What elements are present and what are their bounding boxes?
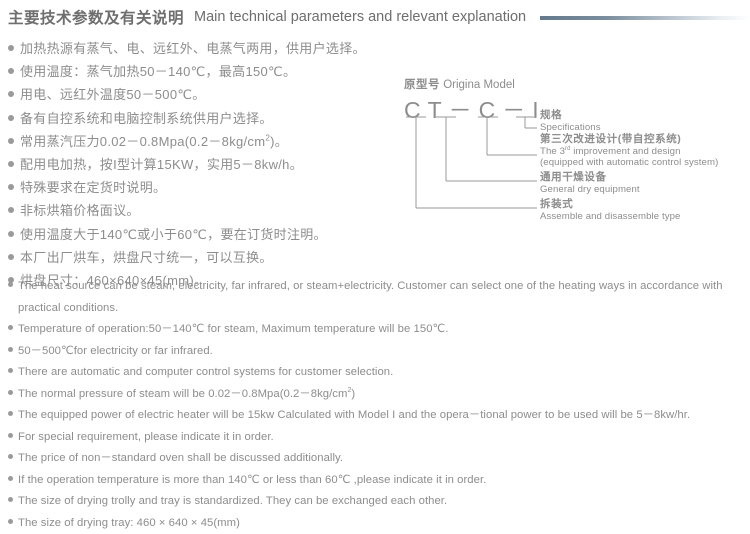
bullet-icon (8, 207, 14, 213)
list-item: 本厂出厂烘车，烘盘尺寸统一，可以互换。 (8, 247, 408, 270)
list-item-label: 加热热源有蒸气、电、远红外、电蒸气两用，供用户选择。 (20, 38, 366, 57)
bullet-icon (8, 68, 14, 74)
bullet-icon (8, 454, 13, 459)
list-item: There are automatic and computer control… (8, 362, 746, 384)
list-item: The normal pressure of steam will be 0.0… (8, 384, 746, 406)
list-item-label: 50－500℃for electricity or far infrared. (18, 341, 213, 363)
bullet-icon (8, 325, 13, 330)
diagram-label-cn: 规格 (540, 110, 601, 122)
list-item-label: The normal pressure of steam will be 0.0… (18, 384, 355, 406)
list-item-label: 使用温度：蒸气加热50－140℃，最高150℃。 (20, 61, 296, 80)
header-gradient-rule (540, 16, 750, 20)
list-item: If the operation temperature is more tha… (8, 470, 746, 492)
bullet-icon (8, 184, 14, 190)
list-item: 备有自控系统和电脑控制系统供用户选择。 (8, 108, 408, 131)
list-item: 非标烘箱价格面议。 (8, 200, 408, 223)
list-item-label: For special requirement, please indicate… (18, 427, 274, 449)
list-item: The price of non－standard oven shall be … (8, 448, 746, 470)
bullet-icon (8, 45, 14, 51)
diagram-label-cn: 拆装式 (540, 199, 680, 211)
diagram-label-en: Assemble and disassemble type (540, 211, 680, 223)
list-item: 加热热源有蒸气、电、远红外、电蒸气两用，供用户选择。 (8, 38, 408, 61)
list-item-label: 常用蒸汽压力0.02－0.8Mpa(0.2－8kg/cm2)。 (20, 131, 288, 150)
bullet-icon (8, 115, 14, 121)
list-item-label: 本厂出厂烘车，烘盘尺寸统一，可以互换。 (20, 247, 273, 266)
list-item: 使用温度：蒸气加热50－140℃，最高150℃。 (8, 61, 408, 84)
bullet-icon (8, 231, 14, 237)
list-item-label: 用电、远红外温度50－500℃。 (20, 84, 206, 103)
list-item: 特殊要求在定货时说明。 (8, 177, 408, 200)
bullet-icon (8, 390, 13, 395)
diagram-label-cn: 第三次改进设计(带自控系统) (540, 134, 718, 146)
list-item-text: 常用蒸汽压力0.02－0.8Mpa(0.2－8kg/cm2)。 (20, 134, 288, 149)
list-item: 配用电加热，按I型计算15KW，实用5－8kw/h。 (8, 154, 408, 177)
list-item-label: 非标烘箱价格面议。 (20, 200, 140, 219)
list-item: Temperature of operation:50－140℃ for ste… (8, 319, 746, 341)
page-header: 主要技术参数及有关说明 Main technical parameters an… (0, 0, 750, 34)
diagram-label-third-improvement: 第三次改进设计(带自控系统) The 3rd improvement and d… (540, 134, 718, 169)
list-item-label: The heat source can be steam, electricit… (18, 276, 746, 319)
bullet-icon (8, 347, 13, 352)
diagram-label-assemble-type: 拆装式 Assemble and disassemble type (540, 199, 680, 222)
diagram-label-cn: 通用干燥设备 (540, 172, 640, 184)
list-item: The heat source can be steam, electricit… (8, 276, 746, 319)
list-item-label: 使用温度大于140℃或小于60℃，要在订货时注明。 (20, 224, 327, 243)
list-item: The equipped power of electric heater wi… (8, 405, 746, 427)
list-item-label: 配用电加热，按I型计算15KW，实用5－8kw/h。 (20, 154, 303, 173)
model-code-diagram: 原型号 Origina Model CT－C－I 规格 Specificat (404, 76, 750, 236)
list-item: 用电、远红外温度50－500℃。 (8, 84, 408, 107)
bullet-icon (8, 476, 13, 481)
english-specification-list: The heat source can be steam, electricit… (8, 276, 746, 534)
diagram-label-general-equipment: 通用干燥设备 General dry equipment (540, 172, 640, 195)
diagram-label-en: The 3rd improvement and design (540, 146, 718, 158)
list-item-label: Temperature of operation:50－140℃ for ste… (18, 319, 448, 341)
bullet-icon (8, 161, 14, 167)
list-item: The size of drying trolly and tray is st… (8, 491, 746, 513)
bullet-icon (8, 497, 13, 502)
chinese-specification-list: 加热热源有蒸气、电、远红外、电蒸气两用，供用户选择。 使用温度：蒸气加热50－1… (8, 38, 408, 293)
list-item-label: There are automatic and computer control… (18, 362, 393, 384)
bullet-icon (8, 91, 14, 97)
bullet-icon (8, 254, 14, 260)
diagram-label-en-second-line: (equipped with automatic control system) (540, 157, 718, 169)
list-item: 常用蒸汽压力0.02－0.8Mpa(0.2－8kg/cm2)。 (8, 131, 408, 154)
list-item: 50－500℃for electricity or far infrared. (8, 341, 746, 363)
bullet-icon (8, 368, 13, 373)
diagram-label-specifications: 规格 Specifications (540, 110, 601, 133)
list-item-label: 特殊要求在定货时说明。 (20, 177, 166, 196)
diagram-label-en: General dry equipment (540, 184, 640, 196)
bullet-icon (8, 519, 13, 524)
bullet-icon (8, 411, 13, 416)
list-item-label: The equipped power of electric heater wi… (18, 405, 690, 427)
list-item-label: The size of drying trolly and tray is st… (18, 491, 447, 513)
list-item-label: 备有自控系统和电脑控制系统供用户选择。 (20, 108, 273, 127)
page-title-english: Main technical parameters and relevant e… (194, 9, 526, 25)
bullet-icon (8, 433, 13, 438)
list-item: 使用温度大于140℃或小于60℃，要在订货时注明。 (8, 224, 408, 247)
list-item-label: If the operation temperature is more tha… (18, 470, 486, 492)
diagram-label-en: Specifications (540, 122, 601, 134)
list-item-label: The price of non－standard oven shall be … (18, 448, 343, 470)
list-item: For special requirement, please indicate… (8, 427, 746, 449)
bullet-icon (8, 138, 14, 144)
page-title-chinese: 主要技术参数及有关说明 (8, 6, 184, 28)
bullet-icon (8, 282, 13, 287)
